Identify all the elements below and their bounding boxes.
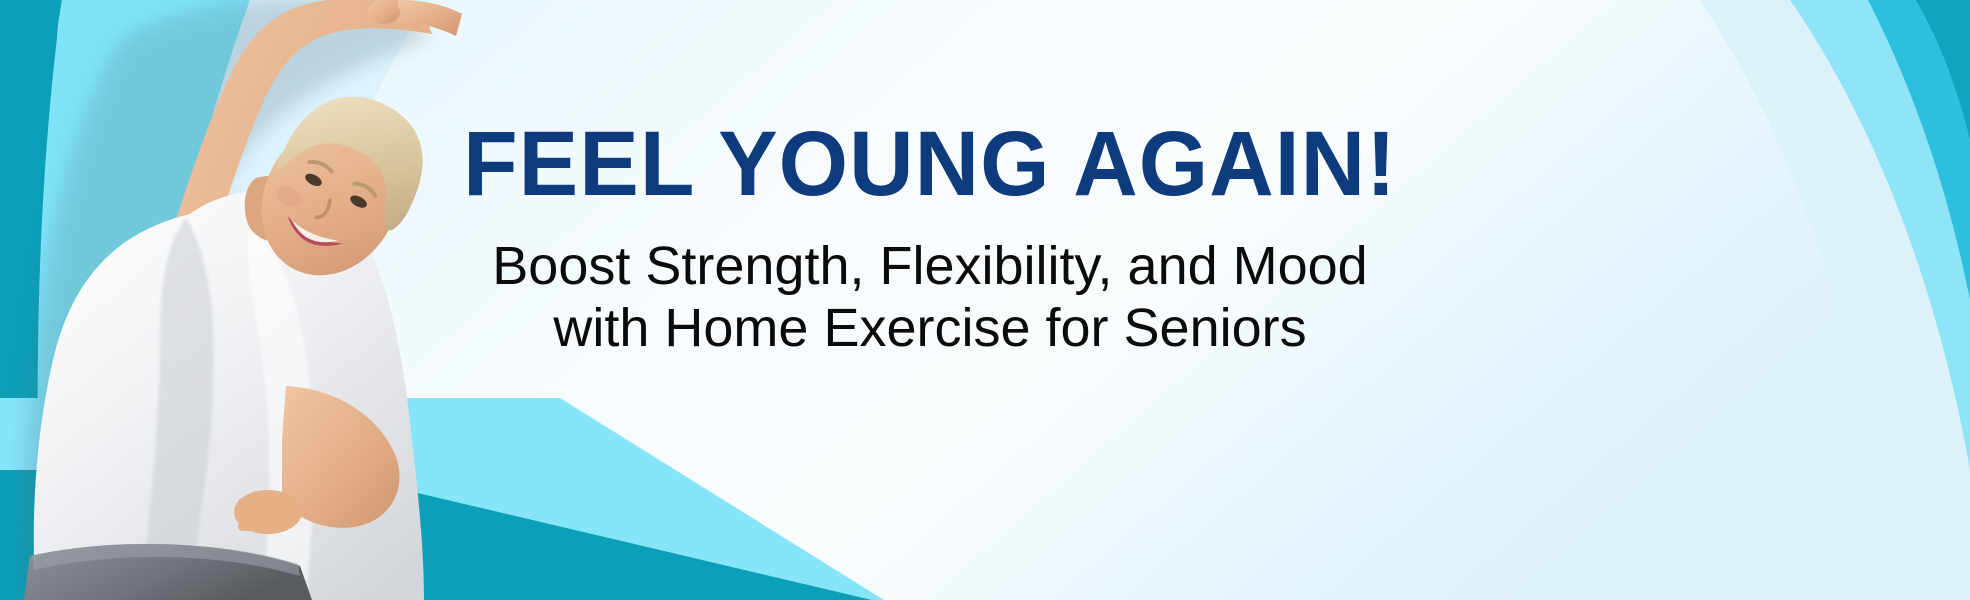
corner-arc-teal-mid bbox=[1868, 0, 1970, 300]
promo-banner: FEEL YOUNG AGAIN! Boost Strength, Flexib… bbox=[0, 0, 1970, 600]
subtitle-line-1: Boost Strength, Flexibility, and Mood bbox=[380, 236, 1480, 296]
subtitle-line-2: with Home Exercise for Seniors bbox=[380, 298, 1480, 358]
corner-arc-teal-dark bbox=[1916, 0, 1970, 140]
banner-subtitle: Boost Strength, Flexibility, and Mood wi… bbox=[380, 236, 1480, 359]
banner-copy: FEEL YOUNG AGAIN! Boost Strength, Flexib… bbox=[380, 118, 1480, 359]
corner-arc-cyan-light bbox=[1790, 0, 1970, 470]
hip-hand bbox=[234, 490, 302, 534]
corner-arc-pale bbox=[1700, 0, 1970, 600]
page-title: FEEL YOUNG AGAIN! bbox=[397, 118, 1464, 210]
